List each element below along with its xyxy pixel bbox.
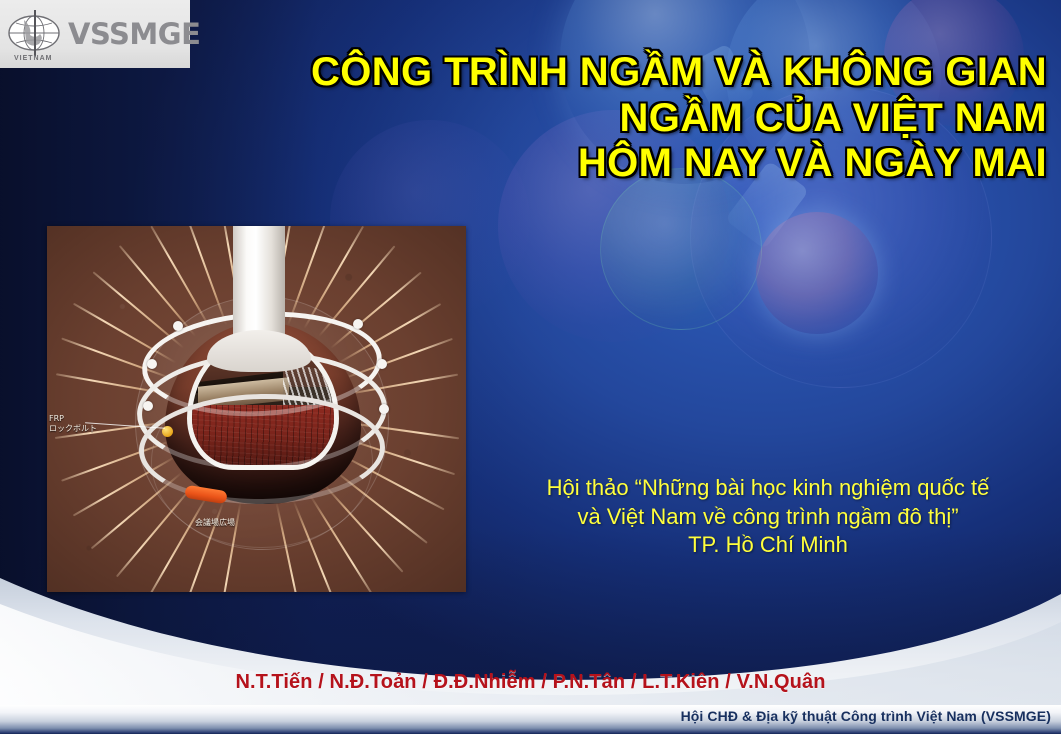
photo-label-hall: 会議場広場 xyxy=(195,518,235,528)
title-line-2: NGẦM CỦA VIỆT NAM xyxy=(227,96,1047,142)
subtitle-line-1: Hội thảo “Những bài học kinh nghiệm quốc… xyxy=(488,474,1048,503)
ring-connector xyxy=(147,359,157,369)
ring-connector xyxy=(143,401,153,411)
subtitle-line-2: và Việt Nam về công trình ngầm đô thị” xyxy=(488,503,1048,532)
title-line-3: HÔM NAY VÀ NGÀY MAI xyxy=(227,141,1047,187)
ring-connector xyxy=(379,404,389,414)
footer-bar: Hội CHĐ & Địa kỹ thuật Công trình Việt N… xyxy=(0,705,1061,734)
page-title: CÔNG TRÌNH NGẦM VÀ KHÔNG GIAN NGẦM CỦA V… xyxy=(227,50,1047,187)
logo-brand-text: VSSMGE xyxy=(68,17,200,51)
ring-connector xyxy=(353,319,363,329)
ring-connector xyxy=(377,359,387,369)
photo-label-rock-bolt: FRP ロックボルト xyxy=(49,414,97,434)
vssmge-logo-box: VIETNAM VSSMGE xyxy=(0,0,190,68)
underground-cavern-image: FRP ロックボルト 会議場広場 xyxy=(47,226,466,592)
subtitle-line-3: TP. Hồ Chí Minh xyxy=(488,531,1048,560)
title-line-1: CÔNG TRÌNH NGẦM VÀ KHÔNG GIAN xyxy=(227,50,1047,96)
globe-vietnam-icon: VIETNAM xyxy=(6,8,64,60)
logo-country-label: VIETNAM xyxy=(14,55,53,62)
presentation-slide: VIETNAM VSSMGE CÔNG TRÌNH NGẦM VÀ KHÔNG … xyxy=(0,0,1061,734)
event-subtitle: Hội thảo “Những bài học kinh nghiệm quốc… xyxy=(488,474,1048,560)
author-list: N.T.Tiến / N.Đ.Toản / Đ.Đ.Nhiễm / P.N.Tâ… xyxy=(0,671,1061,694)
ring-connector xyxy=(173,321,183,331)
footer-organization-label: Hội CHĐ & Địa kỹ thuật Công trình Việt N… xyxy=(681,708,1051,724)
